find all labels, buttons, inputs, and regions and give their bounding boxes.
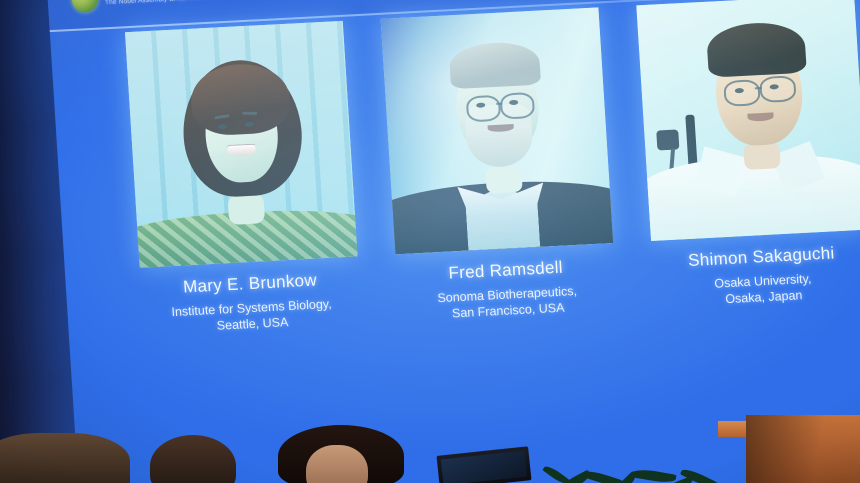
- nobel-medal-emblem-icon: [71, 0, 99, 13]
- portrait-3-content: [636, 0, 860, 241]
- caption-2: Fred Ramsdell Sonoma Biotherapeutics, Sa…: [435, 257, 578, 322]
- laureate-card-2: Fred Ramsdell Sonoma Biotherapeutics, Sa…: [381, 7, 618, 324]
- portrait-fred-ramsdell: [381, 7, 614, 254]
- portrait-2-lens-left: [466, 95, 502, 123]
- projection-screen-wrap: Nobelförsamlingen The Nobel Assembly at …: [0, 0, 860, 483]
- portrait-3-neck: [743, 142, 781, 170]
- portrait-1-neck: [227, 193, 265, 225]
- caption-1: Mary E. Brunkow Institute for Systems Bi…: [169, 270, 333, 336]
- portrait-2-lens-right: [500, 92, 536, 120]
- portrait-mary-brunkow: [125, 21, 358, 268]
- screenshot-stage: Nobelförsamlingen The Nobel Assembly at …: [0, 0, 860, 483]
- projection-screen: Nobelförsamlingen The Nobel Assembly at …: [46, 0, 860, 483]
- laureate-3-affiliation: Osaka University, Osaka, Japan: [689, 269, 837, 309]
- portrait-1-brow-right: [242, 112, 257, 115]
- laureate-card-3: Shimon Sakaguchi Osaka University, Osaka…: [636, 0, 860, 311]
- laureate-2-affiliation: Sonoma Biotherapeutics, San Francisco, U…: [437, 283, 578, 322]
- portrait-shimon-sakaguchi: [636, 0, 860, 241]
- laureate-1-name: Mary E. Brunkow: [169, 270, 330, 298]
- portrait-3-lens-right: [759, 75, 797, 103]
- laureate-2-affiliation-line2: San Francisco, USA: [452, 301, 565, 321]
- portrait-2-glasses-bridge: [496, 103, 502, 105]
- portrait-3-lens-left: [723, 79, 761, 107]
- laureate-card-1: Mary E. Brunkow Institute for Systems Bi…: [125, 21, 362, 338]
- laureate-1-affiliation-line1: Institute for Systems Biology,: [171, 297, 332, 319]
- laureate-3-affiliation-line2: Osaka, Japan: [725, 288, 803, 306]
- laureate-3-name: Shimon Sakaguchi: [688, 243, 836, 271]
- portrait-1-content: [125, 21, 358, 268]
- portrait-3-glasses-bridge: [755, 87, 762, 89]
- portrait-2-content: [381, 7, 614, 254]
- laureate-2-name: Fred Ramsdell: [435, 257, 576, 284]
- laureate-1-affiliation-line2: Seattle, USA: [216, 315, 288, 333]
- laureate-row: Mary E. Brunkow Institute for Systems Bi…: [50, 0, 860, 342]
- portrait-3-equipment-knob: [656, 129, 679, 150]
- laureate-1-affiliation: Institute for Systems Biology, Seattle, …: [171, 296, 333, 336]
- caption-3: Shimon Sakaguchi Osaka University, Osaka…: [688, 243, 838, 309]
- portrait-2-neck: [485, 166, 523, 194]
